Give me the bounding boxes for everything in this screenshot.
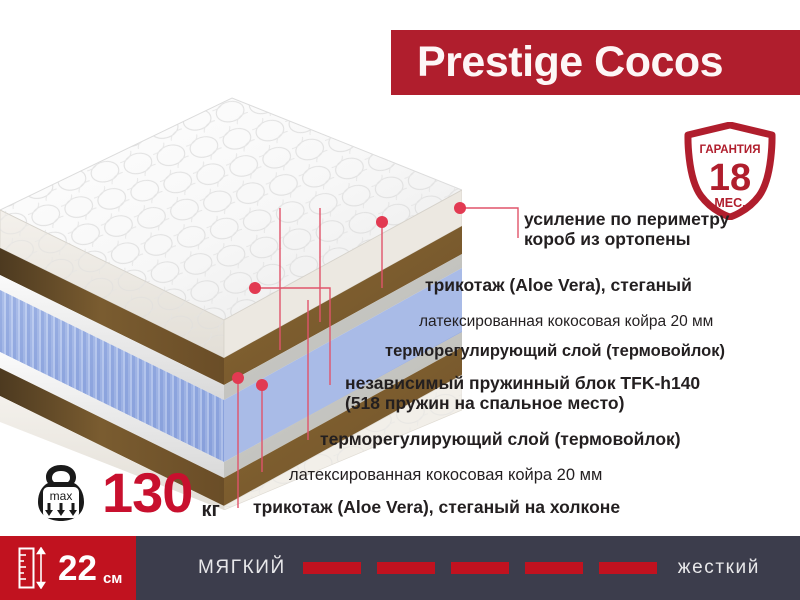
callout-coir-top: латексированная кокосовая койра 20 мм — [419, 313, 713, 330]
firmness-hard-label: жесткий — [678, 557, 760, 579]
callout-knit-top: трикотаж (Aloe Vera), стеганый — [425, 276, 692, 296]
kettlebell-icon: max — [34, 462, 88, 524]
height-unit: см — [103, 570, 122, 587]
guarantee-badge: ГАРАНТИЯ 18 МЕС. — [683, 122, 777, 220]
callout-thermo-bottom: терморегулирующий слой (термовойлок) — [320, 430, 681, 450]
firmness-scale: МЯГКИЙ жесткий — [136, 536, 800, 600]
firmness-steps — [303, 562, 657, 574]
firmness-soft-label: МЯГКИЙ — [198, 557, 286, 579]
max-weight-block: max 130 кг — [34, 458, 220, 528]
firmness-step — [451, 562, 509, 574]
max-weight-value: 130 — [102, 465, 192, 521]
badge-top-label: ГАРАНТИЯ — [700, 144, 761, 156]
height-value: 22 — [58, 551, 97, 586]
bottom-spec-bar: 22 см МЯГКИЙ жесткий — [0, 536, 800, 600]
callout-spring-block-line2: (518 пружин на спальное место) — [345, 394, 700, 414]
kettlebell-max-label: max — [50, 489, 73, 503]
firmness-step — [303, 562, 361, 574]
max-weight-unit: кг — [201, 499, 219, 522]
page-title: Prestige Cocos — [417, 41, 723, 84]
callout-knit-bottom: трикотаж (Aloe Vera), стеганый на холкон… — [253, 498, 620, 518]
product-infographic: Prestige Cocos ГАРАНТИЯ 18 МЕС. — [0, 0, 800, 600]
callout-spring-block-line1: независимый пружинный блок TFK-h140 — [345, 374, 700, 394]
badge-bottom-label: МЕС. — [714, 196, 745, 210]
callout-coir-bottom: латексированная кокосовая койра 20 мм — [289, 466, 602, 484]
callout-perimeter-line2: короб из ортопены — [524, 230, 729, 250]
badge-value: 18 — [709, 157, 751, 199]
firmness-step — [599, 562, 657, 574]
ruler-icon — [18, 547, 48, 589]
product-title-banner: Prestige Cocos — [391, 30, 800, 95]
firmness-step — [377, 562, 435, 574]
callout-perimeter-line1: усиление по периметру — [524, 210, 729, 230]
firmness-step — [525, 562, 583, 574]
callout-spring-block: независимый пружинный блок TFK-h140 (518… — [345, 374, 700, 413]
height-block: 22 см — [0, 536, 136, 600]
callout-perimeter: усиление по периметру короб из ортопены — [524, 210, 729, 249]
callout-thermo-top: терморегулирующий слой (термовойлок) — [385, 342, 725, 360]
